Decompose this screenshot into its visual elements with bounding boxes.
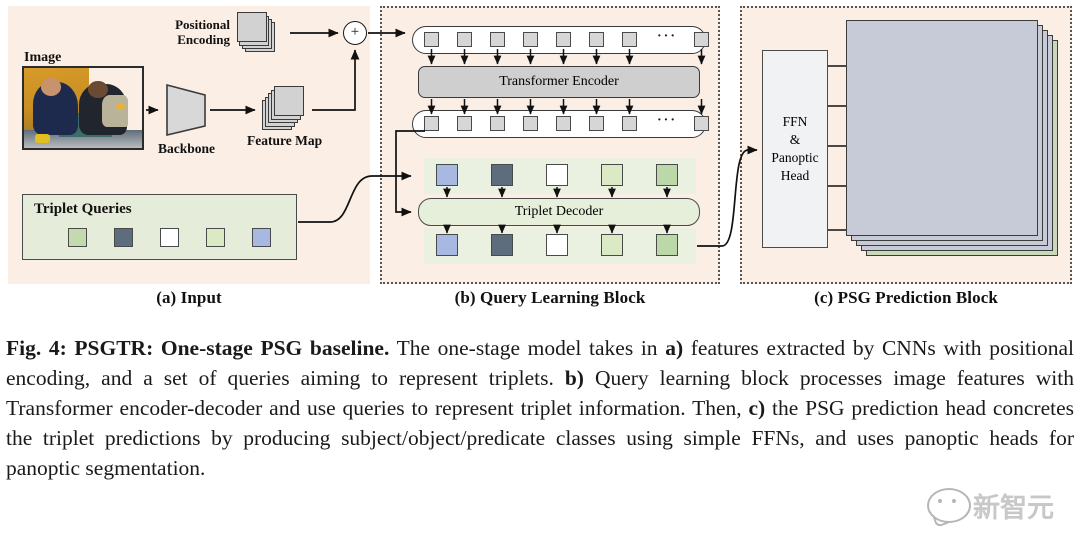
watermark-text: 新智元 xyxy=(973,486,1054,525)
watermark: 新智元 xyxy=(925,480,1075,535)
triplet-query-square xyxy=(206,228,225,247)
encoder-input-token xyxy=(622,32,637,47)
token-ellipsis: ··· xyxy=(657,113,677,129)
encoder-input-token xyxy=(556,32,571,47)
encoder-input-token xyxy=(490,32,505,47)
encoder-output-token xyxy=(622,116,637,131)
triplet-decoder-box: Triplet Decoder xyxy=(418,198,700,226)
transformer-encoder-box: Transformer Encoder xyxy=(418,66,700,98)
decoder-input-square xyxy=(656,164,678,186)
ffn-line-1: FFN xyxy=(763,113,827,131)
encoder-input-token xyxy=(694,32,709,47)
caption-ref-c: c) xyxy=(749,396,766,420)
encoder-input-token xyxy=(523,32,538,47)
add-operator: + xyxy=(343,21,367,45)
triplet-queries-label: Triplet Queries xyxy=(34,201,132,218)
feature-map-label: Feature Map xyxy=(247,133,322,148)
panel-a-label: (a) Input xyxy=(8,288,370,308)
caption-ref-b: b) xyxy=(565,366,584,390)
decoder-input-square xyxy=(436,164,458,186)
encoder-input-token xyxy=(457,32,472,47)
figure-psgtr: Image Positional Encoding Backbone Featu… xyxy=(0,0,1080,549)
ffn-line-2: & xyxy=(763,131,827,149)
decoder-output-square xyxy=(436,234,458,256)
encoder-input-token xyxy=(589,32,604,47)
caption-part-1: The one-stage model takes in xyxy=(389,336,665,360)
encoder-output-token xyxy=(523,116,538,131)
token-ellipsis: ··· xyxy=(657,29,677,45)
feature-map-stack xyxy=(262,86,310,132)
positional-encoding-stack xyxy=(237,12,283,54)
caption-ref-a: a) xyxy=(665,336,683,360)
backbone-trapezoid xyxy=(163,82,209,138)
caption-title: Fig. 4: PSGTR: One-stage PSG baseline. xyxy=(6,336,389,360)
decoder-output-square xyxy=(491,234,513,256)
encoder-output-token xyxy=(490,116,505,131)
encoder-output-token xyxy=(589,116,604,131)
prediction-sheet-back xyxy=(846,20,1038,236)
ffn-panoptic-head-box: FFN & Panoptic Head xyxy=(762,50,828,248)
ffn-line-4: Head xyxy=(763,167,827,185)
triplet-query-square xyxy=(68,228,87,247)
decoder-output-square xyxy=(601,234,623,256)
positional-encoding-label: Positional Encoding xyxy=(160,18,230,47)
triplet-query-square xyxy=(160,228,179,247)
triplet-query-square xyxy=(114,228,133,247)
triplet-query-square xyxy=(252,228,271,247)
image-label: Image xyxy=(24,50,61,66)
input-image-thumbnail xyxy=(22,66,144,150)
backbone-label: Backbone xyxy=(158,141,215,156)
encoder-output-token xyxy=(556,116,571,131)
encoder-output-token xyxy=(424,116,439,131)
figure-caption: Fig. 4: PSGTR: One-stage PSG baseline. T… xyxy=(6,333,1074,483)
encoder-input-token xyxy=(424,32,439,47)
decoder-input-square xyxy=(601,164,623,186)
panel-c-label: (c) PSG Prediction Block xyxy=(740,288,1072,308)
panel-b-label: (b) Query Learning Block xyxy=(380,288,720,308)
decoder-output-square xyxy=(656,234,678,256)
decoder-input-square xyxy=(491,164,513,186)
decoder-output-square xyxy=(546,234,568,256)
ffn-line-3: Panoptic xyxy=(763,149,827,167)
decoder-input-square xyxy=(546,164,568,186)
encoder-output-token xyxy=(694,116,709,131)
encoder-output-token xyxy=(457,116,472,131)
